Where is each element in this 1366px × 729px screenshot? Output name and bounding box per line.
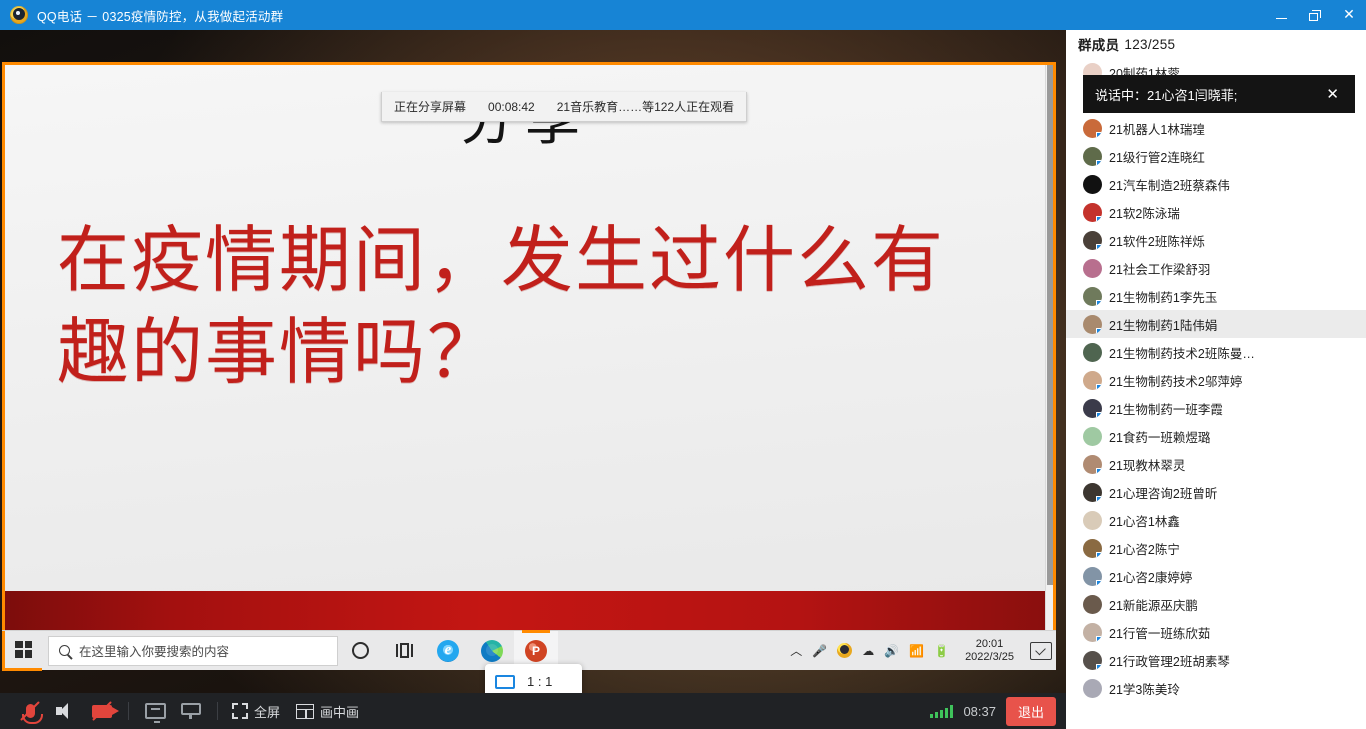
member-row[interactable]: 21生物制药1李先玉 bbox=[1066, 282, 1366, 310]
onedrive-icon[interactable]: ☁ bbox=[862, 645, 874, 657]
action-center-icon[interactable] bbox=[1030, 642, 1052, 660]
member-row[interactable]: 21心咨2康婷婷 bbox=[1066, 562, 1366, 590]
microphone-icon[interactable]: 🎤 bbox=[812, 645, 827, 657]
avatar-badge-icon bbox=[1096, 216, 1102, 222]
member-row[interactable]: 21软2陈泳瑞 bbox=[1066, 198, 1366, 226]
member-name: 21生物制药技术2邬萍婷 bbox=[1109, 371, 1242, 390]
member-name: 21生物制药一班李霞 bbox=[1109, 399, 1223, 418]
member-name: 21心理咨询2班曾昕 bbox=[1109, 483, 1217, 502]
picture-in-picture-button[interactable]: 画中画 bbox=[290, 693, 369, 729]
taskbar-clock[interactable]: 20:01 2022/3/25 bbox=[959, 638, 1020, 664]
fullscreen-button[interactable]: 全屏 bbox=[226, 693, 290, 729]
member-name: 21心咨2陈宁 bbox=[1109, 539, 1180, 558]
internet-explorer-icon: e bbox=[437, 640, 459, 662]
member-name: 21食药一班赖煜璐 bbox=[1109, 427, 1210, 446]
cortana-button[interactable] bbox=[338, 631, 382, 671]
window-title: QQ电话 － 0325疫情防控，从我做起活动群 bbox=[37, 6, 283, 25]
windows-start-button[interactable] bbox=[2, 631, 42, 671]
share-screen-button[interactable] bbox=[137, 693, 173, 729]
avatar bbox=[1083, 427, 1102, 446]
member-name: 21生物制药技术2班陈曼… bbox=[1109, 343, 1255, 362]
microphone-toggle-button[interactable] bbox=[12, 693, 48, 729]
member-row[interactable]: 21食药一班赖煜璐 bbox=[1066, 422, 1366, 450]
avatar bbox=[1083, 399, 1102, 418]
close-button[interactable]: ✕ bbox=[1332, 0, 1366, 30]
picture-in-picture-icon bbox=[296, 704, 314, 719]
speaker-toggle-button[interactable] bbox=[48, 693, 84, 729]
member-name: 21软2陈泳瑞 bbox=[1109, 203, 1180, 222]
member-row[interactable]: 21机器人1林瑞瑝 bbox=[1066, 114, 1366, 142]
taskbar-search-input[interactable]: 在这里输入你要搜索的内容 bbox=[48, 636, 338, 666]
control-divider bbox=[128, 702, 129, 720]
signal-strength-icon bbox=[930, 705, 953, 718]
restore-button[interactable] bbox=[1298, 0, 1332, 30]
speaker-icon bbox=[56, 703, 76, 719]
member-name: 21汽车制造2班蔡森伟 bbox=[1109, 175, 1230, 194]
avatar bbox=[1083, 203, 1102, 222]
wifi-icon[interactable]: 📶 bbox=[909, 645, 924, 657]
members-list[interactable]: 20制药1林蓉21导游1蔡婷21机器人1林瑞瑝21级行管2连晓红21汽车制造2班… bbox=[1066, 58, 1366, 729]
member-row[interactable]: 21心咨2陈宁 bbox=[1066, 534, 1366, 562]
member-row[interactable]: 21心理咨询2班曾昕 bbox=[1066, 478, 1366, 506]
member-row[interactable]: 21行管一班练欣茹 bbox=[1066, 618, 1366, 646]
avatar-badge-icon bbox=[1096, 160, 1102, 166]
call-status-group: 08:37 退出 bbox=[930, 697, 1066, 726]
cortana-icon bbox=[352, 642, 369, 659]
avatar-badge-icon bbox=[1096, 412, 1102, 418]
member-name: 21生物制药1李先玉 bbox=[1109, 287, 1217, 306]
tray-overflow-icon[interactable]: ︿ bbox=[790, 645, 802, 657]
member-name: 21社会工作梁舒羽 bbox=[1109, 259, 1210, 278]
search-placeholder: 在这里输入你要搜索的内容 bbox=[79, 641, 229, 660]
search-icon bbox=[59, 645, 70, 656]
avatar-badge-icon bbox=[1096, 384, 1102, 390]
member-name: 21软件2班陈祥烁 bbox=[1109, 231, 1205, 250]
avatar-badge-icon bbox=[1096, 552, 1102, 558]
member-name: 21学3陈美玲 bbox=[1109, 679, 1180, 698]
member-row[interactable]: 21生物制药一班李霞 bbox=[1066, 394, 1366, 422]
member-row[interactable]: 21现教林翠灵 bbox=[1066, 450, 1366, 478]
share-screen-icon bbox=[145, 703, 166, 719]
avatar bbox=[1083, 455, 1102, 474]
avatar-badge-icon bbox=[1096, 244, 1102, 250]
avatar-badge-icon bbox=[1096, 468, 1102, 474]
avatar-badge-icon bbox=[1096, 636, 1102, 642]
battery-icon[interactable]: 🔋 bbox=[934, 645, 949, 657]
member-row[interactable]: 21行政管理2班胡素琴 bbox=[1066, 646, 1366, 674]
restore-icon bbox=[1309, 10, 1321, 21]
call-elapsed-time: 08:37 bbox=[963, 704, 996, 719]
avatar bbox=[1083, 231, 1102, 250]
avatar bbox=[1083, 511, 1102, 530]
member-row[interactable]: 21软件2班陈祥烁 bbox=[1066, 226, 1366, 254]
shared-screen-content: 分享 在疫情期间，发生过什么有趣的事情吗？ bbox=[5, 65, 1053, 657]
slide-body-text: 在疫情期间，发生过什么有趣的事情吗？ bbox=[57, 215, 983, 399]
screen-ratio-icon bbox=[495, 675, 515, 689]
sharing-viewers: 21音乐教育……等122人正在观看 bbox=[557, 101, 734, 113]
avatar bbox=[1083, 679, 1102, 698]
member-row[interactable]: 21生物制药技术2班陈曼… bbox=[1066, 338, 1366, 366]
clock-time: 20:01 bbox=[965, 638, 1014, 651]
members-title: 群成员 bbox=[1078, 34, 1119, 54]
member-row[interactable]: 21学3陈美玲 bbox=[1066, 674, 1366, 702]
qq-tray-icon[interactable] bbox=[837, 643, 852, 658]
close-icon: ✕ bbox=[1343, 8, 1355, 22]
whiteboard-button[interactable] bbox=[173, 693, 209, 729]
avatar bbox=[1083, 343, 1102, 362]
avatar bbox=[1083, 651, 1102, 670]
video-stage[interactable]: 分享 在疫情期间，发生过什么有趣的事情吗？ 在这里输入你要搜索的内容 bbox=[0, 30, 1066, 693]
close-icon[interactable]: ✕ bbox=[1322, 83, 1343, 106]
internet-explorer-button[interactable]: e bbox=[426, 631, 470, 671]
avatar-badge-icon bbox=[1096, 664, 1102, 670]
windows-start-icon bbox=[15, 641, 32, 658]
avatar bbox=[1083, 315, 1102, 334]
avatar bbox=[1083, 623, 1102, 642]
powerpoint-icon: P bbox=[525, 640, 547, 662]
control-divider-2 bbox=[217, 702, 218, 720]
member-name: 21心咨2康婷婷 bbox=[1109, 567, 1192, 586]
fullscreen-icon bbox=[232, 703, 248, 719]
avatar bbox=[1083, 567, 1102, 586]
minimize-button[interactable] bbox=[1264, 0, 1298, 30]
members-count: 123/255 bbox=[1124, 37, 1175, 52]
member-name: 21现教林翠灵 bbox=[1109, 455, 1185, 474]
shared-window-scrollbar[interactable] bbox=[1045, 65, 1053, 657]
member-name: 21行管一班练欣茹 bbox=[1109, 623, 1210, 642]
member-name: 21心咨1林鑫 bbox=[1109, 511, 1180, 530]
sharing-duration: 00:08:42 bbox=[488, 101, 535, 113]
avatar bbox=[1083, 175, 1102, 194]
camera-toggle-button[interactable] bbox=[84, 693, 120, 729]
avatar-badge-icon bbox=[1096, 496, 1102, 502]
avatar bbox=[1083, 371, 1102, 390]
screen-ratio-label: 1 : 1 bbox=[527, 674, 552, 689]
avatar-badge-icon bbox=[1096, 300, 1102, 306]
member-row[interactable]: 21汽车制造2班蔡森伟 bbox=[1066, 170, 1366, 198]
member-row[interactable]: 21社会工作梁舒羽 bbox=[1066, 254, 1366, 282]
member-name: 21级行管2连晓红 bbox=[1109, 147, 1205, 166]
avatar bbox=[1083, 147, 1102, 166]
member-name: 21行政管理2班胡素琴 bbox=[1109, 651, 1230, 670]
powerpoint-slide: 分享 在疫情期间，发生过什么有趣的事情吗？ bbox=[5, 65, 1045, 591]
fullscreen-label: 全屏 bbox=[254, 702, 280, 721]
avatar bbox=[1083, 483, 1102, 502]
members-panel-header: 群成员 123/255 bbox=[1066, 30, 1366, 58]
sharing-status-bar[interactable]: 正在分享屏幕 00:08:42 21音乐教育……等122人正在观看 bbox=[381, 92, 747, 122]
call-control-bar: 全屏 画中画 08:37 退出 bbox=[0, 693, 1066, 729]
member-row[interactable]: 21生物制药技术2邬萍婷 bbox=[1066, 366, 1366, 394]
member-row[interactable]: 21级行管2连晓红 bbox=[1066, 142, 1366, 170]
member-name: 21机器人1林瑞瑝 bbox=[1109, 119, 1205, 138]
task-view-icon bbox=[396, 643, 413, 658]
avatar-badge-icon bbox=[1096, 328, 1102, 334]
shared-screen-frame: 分享 在疫情期间，发生过什么有趣的事情吗？ bbox=[2, 62, 1056, 660]
clock-date: 2022/3/25 bbox=[965, 651, 1014, 664]
member-name: 21新能源巫庆鹏 bbox=[1109, 595, 1198, 614]
member-row[interactable]: 21生物制药1陆伟娟 bbox=[1066, 310, 1366, 338]
speaking-toast: 说话中：21心咨1闫晓菲; ✕ bbox=[1083, 75, 1355, 113]
member-row[interactable]: 21新能源巫庆鹏 bbox=[1066, 590, 1366, 618]
system-tray: ︿ 🎤 ☁ 🔊 📶 🔋 20:01 2022/3/25 bbox=[790, 638, 1056, 664]
members-panel: 群成员 123/255 20制药1林蓉21导游1蔡婷21机器人1林瑞瑝21级行管… bbox=[1066, 30, 1366, 729]
scrollbar-thumb[interactable] bbox=[1047, 65, 1053, 585]
avatar bbox=[1083, 287, 1102, 306]
whiteboard-icon bbox=[181, 703, 201, 719]
volume-icon[interactable]: 🔊 bbox=[884, 645, 899, 657]
window-title-bar: QQ电话 － 0325疫情防控，从我做起活动群 ✕ bbox=[0, 0, 1366, 30]
avatar bbox=[1083, 539, 1102, 558]
minimize-icon bbox=[1276, 18, 1287, 19]
qq-penguin-icon bbox=[10, 6, 28, 24]
speaking-toast-text: 说话中：21心咨1闫晓菲; bbox=[1095, 85, 1322, 104]
member-row[interactable]: 21心咨1林鑫 bbox=[1066, 506, 1366, 534]
avatar bbox=[1083, 119, 1102, 138]
task-view-button[interactable] bbox=[382, 631, 426, 671]
sharing-status-label: 正在分享屏幕 bbox=[394, 101, 466, 113]
window-controls: ✕ bbox=[1264, 0, 1366, 30]
avatar bbox=[1083, 595, 1102, 614]
avatar bbox=[1083, 259, 1102, 278]
exit-call-button[interactable]: 退出 bbox=[1006, 697, 1056, 726]
screen-ratio-popup[interactable]: 1 : 1 bbox=[485, 664, 582, 693]
avatar-badge-icon bbox=[1096, 132, 1102, 138]
avatar-badge-icon bbox=[1096, 580, 1102, 586]
picture-in-picture-label: 画中画 bbox=[320, 702, 359, 721]
edge-browser-icon bbox=[481, 640, 503, 662]
member-name: 21生物制药1陆伟娟 bbox=[1109, 315, 1217, 334]
